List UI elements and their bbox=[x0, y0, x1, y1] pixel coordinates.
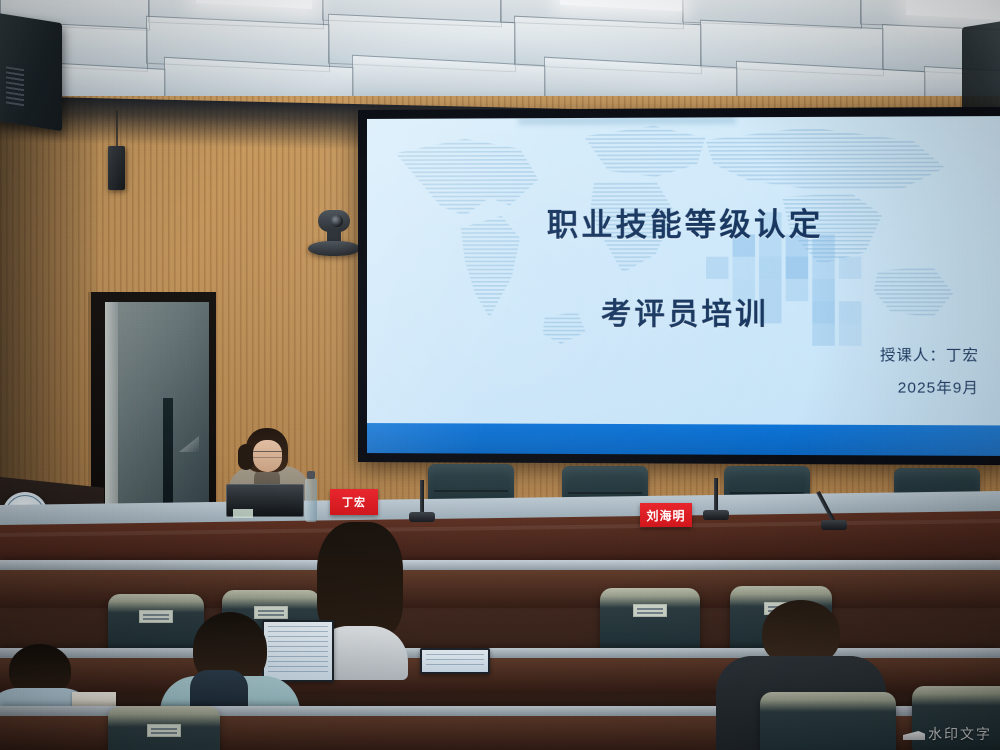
camera-lens-icon bbox=[331, 215, 343, 227]
bottle-cap bbox=[307, 471, 315, 479]
desk-microphone-icon bbox=[826, 486, 842, 530]
placard-lecturer: 丁宏 bbox=[330, 489, 378, 515]
presenter-laptop bbox=[226, 484, 304, 522]
slide-date: 2025年9月 bbox=[880, 372, 979, 405]
water-bottle bbox=[305, 478, 317, 522]
ptz-camera-icon bbox=[308, 210, 360, 256]
camera-head bbox=[318, 210, 350, 232]
mic-stalk bbox=[714, 478, 718, 512]
slide-presenter: 授课人：丁宏 bbox=[880, 339, 979, 372]
watermark: 水印文字 bbox=[903, 724, 992, 744]
door-stile bbox=[105, 302, 118, 524]
mic-base bbox=[821, 520, 847, 530]
chair-seam bbox=[434, 490, 508, 492]
tablet-screen-content bbox=[426, 654, 484, 668]
audience-chair[interactable] bbox=[108, 706, 220, 750]
slide-surface: 职业技能等级认定 考评员培训 授课人：丁宏 2025年9月 bbox=[367, 116, 1000, 456]
audience-tablet[interactable] bbox=[420, 648, 490, 674]
chair-seam bbox=[568, 492, 642, 494]
mic-stalk bbox=[420, 480, 424, 514]
slide-subtitle: 考评员培训 bbox=[367, 289, 1000, 334]
side-door[interactable] bbox=[88, 292, 216, 524]
wall-speaker-icon bbox=[0, 13, 62, 131]
watermark-text: 水印文字 bbox=[928, 726, 992, 742]
placard-attendee: 刘海明 bbox=[640, 503, 692, 527]
seat-number-tag bbox=[633, 604, 667, 617]
slide-heading-block: 职业技能等级认定 考评员培训 bbox=[367, 208, 1000, 334]
slide-footer-bar bbox=[367, 423, 1000, 456]
lecturer-hair-bun bbox=[238, 444, 254, 470]
projection-screen: 职业技能等级认定 考评员培训 授课人：丁宏 2025年9月 bbox=[358, 107, 1000, 465]
wall-speaker-small-icon bbox=[108, 146, 125, 190]
speaker-grille bbox=[6, 66, 24, 109]
door-vision-panel bbox=[163, 398, 173, 518]
door-panel[interactable] bbox=[105, 302, 209, 524]
watermark-mark-icon bbox=[903, 731, 925, 740]
wall-speaker-right-icon bbox=[962, 21, 1000, 118]
slide-metadata-block: 授课人：丁宏 2025年9月 bbox=[880, 339, 979, 405]
screen-top-glare bbox=[519, 117, 736, 124]
audience-chair[interactable] bbox=[760, 692, 896, 750]
glasses-icon bbox=[253, 451, 282, 458]
wall-left-shading bbox=[0, 96, 96, 516]
camera-mount bbox=[308, 241, 360, 256]
desk-surface bbox=[0, 560, 1000, 570]
speaker-wire bbox=[116, 110, 118, 146]
seat-number-tag bbox=[147, 724, 181, 737]
desk-microphone-icon bbox=[414, 478, 430, 522]
slide-title: 职业技能等级认定 bbox=[367, 208, 1000, 243]
mic-base bbox=[409, 512, 435, 522]
mic-base bbox=[703, 510, 729, 520]
audience-chair[interactable] bbox=[600, 588, 700, 654]
laptop-sticker bbox=[233, 509, 253, 518]
audience-area bbox=[0, 560, 1000, 750]
lecture-hall-photo: 职业技能等级认定 考评员培训 授课人：丁宏 2025年9月 bbox=[0, 0, 1000, 750]
door-glare bbox=[179, 436, 199, 452]
desk-microphone-icon bbox=[708, 476, 724, 520]
